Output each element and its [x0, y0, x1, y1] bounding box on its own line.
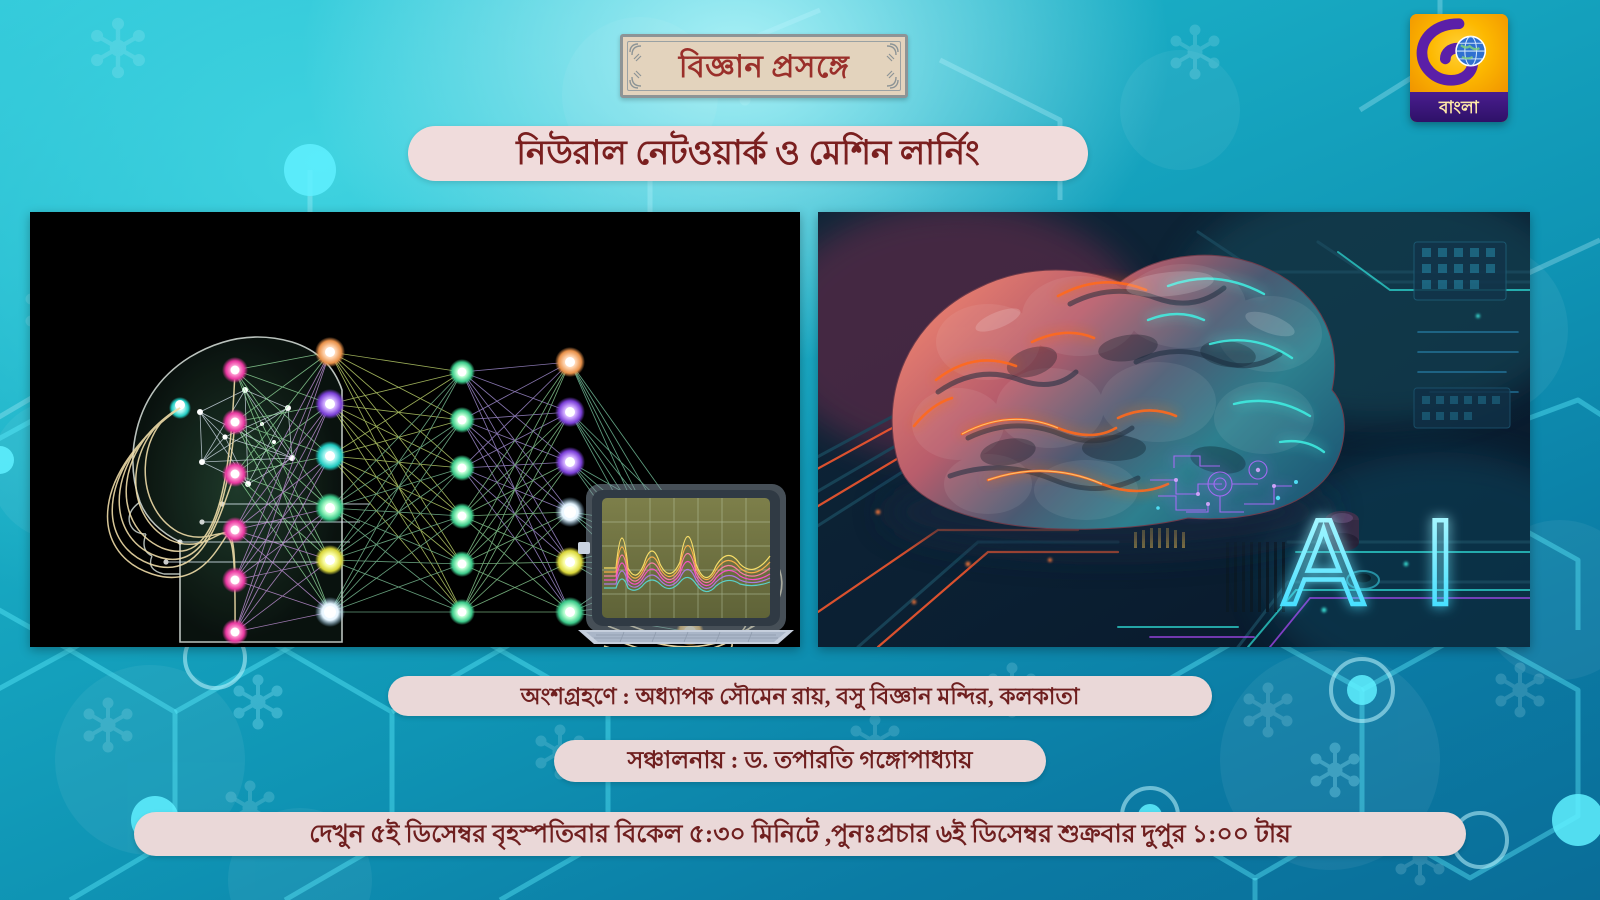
- dd-bangla-logo: বাংলা: [1410, 14, 1508, 122]
- corner-flourish-icon: [629, 69, 649, 89]
- brain-ai-graphic: A I: [818, 212, 1530, 647]
- participant-credit: অংশগ্রহণে : অধ্যাপক সৌমেন রায়, বসু বিজ্…: [388, 676, 1212, 716]
- logo-wordmark-band: বাংলা: [1410, 92, 1508, 122]
- neural-network-graphic: [30, 212, 800, 647]
- page-title-text: নিউরাল নেটওয়ার্ক ও মেশিন লার্নিং: [516, 137, 979, 171]
- host-credit-text: সঞ্চালনায় : ড. তপারতি গঙ্গোপাধ্যায়: [627, 749, 972, 773]
- logo-emblem: [1410, 14, 1508, 92]
- corner-flourish-icon: [629, 43, 649, 63]
- broadcast-schedule-text: দেখুন ৫ই ডিসেম্বর বৃহস্পতিবার বিকেল ৫:৩০…: [309, 822, 1291, 847]
- broadcast-schedule: দেখুন ৫ই ডিসেম্বর বৃহস্পতিবার বিকেল ৫:৩০…: [134, 812, 1466, 856]
- doordarshan-eye-icon: [1410, 14, 1508, 92]
- ai-neon-text: A I: [1283, 494, 1473, 630]
- program-banner-label: বিজ্ঞান প্রসঙ্গে: [679, 51, 849, 82]
- logo-wordmark: বাংলা: [1439, 99, 1479, 116]
- ai-overlay-label: A I: [1283, 494, 1473, 630]
- program-banner: বিজ্ঞান প্রসঙ্গে: [620, 34, 908, 98]
- corner-flourish-icon: [879, 69, 899, 89]
- participant-credit-text: অংশগ্রহণে : অধ্যাপক সৌমেন রায়, বসু বিজ্…: [521, 685, 1080, 708]
- media-row: A I: [0, 212, 1600, 647]
- laptop-with-waveform-chart: [578, 484, 794, 644]
- corner-flourish-icon: [879, 43, 899, 63]
- neural-network-illustration: [30, 212, 800, 647]
- page-title: নিউরাল নেটওয়ার্ক ও মেশিন লার্নিং: [408, 126, 1088, 181]
- brain-ai-circuit-image: A I: [818, 212, 1530, 647]
- host-credit: সঞ্চালনায় : ড. তপারতি গঙ্গোপাধ্যায়: [554, 740, 1046, 782]
